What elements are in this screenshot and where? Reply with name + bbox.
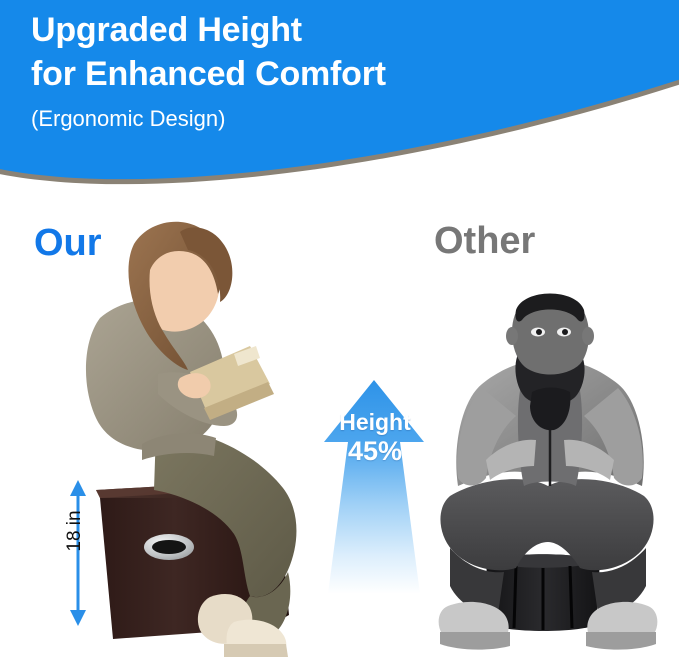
measure-value-label: 18 in — [64, 496, 86, 566]
growth-arrow: Height 45% — [296, 372, 454, 594]
header-text-block: Upgraded Height for Enhanced Comfort (Er… — [31, 8, 551, 134]
label-other: Other — [434, 221, 535, 261]
growth-arrow-shape — [324, 380, 424, 594]
height-measurement: 18 in — [46, 476, 110, 630]
headline-line-2: for Enhanced Comfort — [31, 52, 551, 96]
scene-other-illustration — [420, 280, 679, 657]
ottoman-handle-icon — [144, 534, 194, 560]
product-infographic: Upgraded Height for Enhanced Comfort (Er… — [0, 0, 679, 657]
header-subhead: (Ergonomic Design) — [31, 104, 551, 134]
scene-other-product — [420, 280, 679, 657]
growth-arrow-icon — [296, 372, 454, 594]
headline-line-1: Upgraded Height — [31, 8, 551, 52]
header-banner: Upgraded Height for Enhanced Comfort (Er… — [0, 0, 679, 200]
